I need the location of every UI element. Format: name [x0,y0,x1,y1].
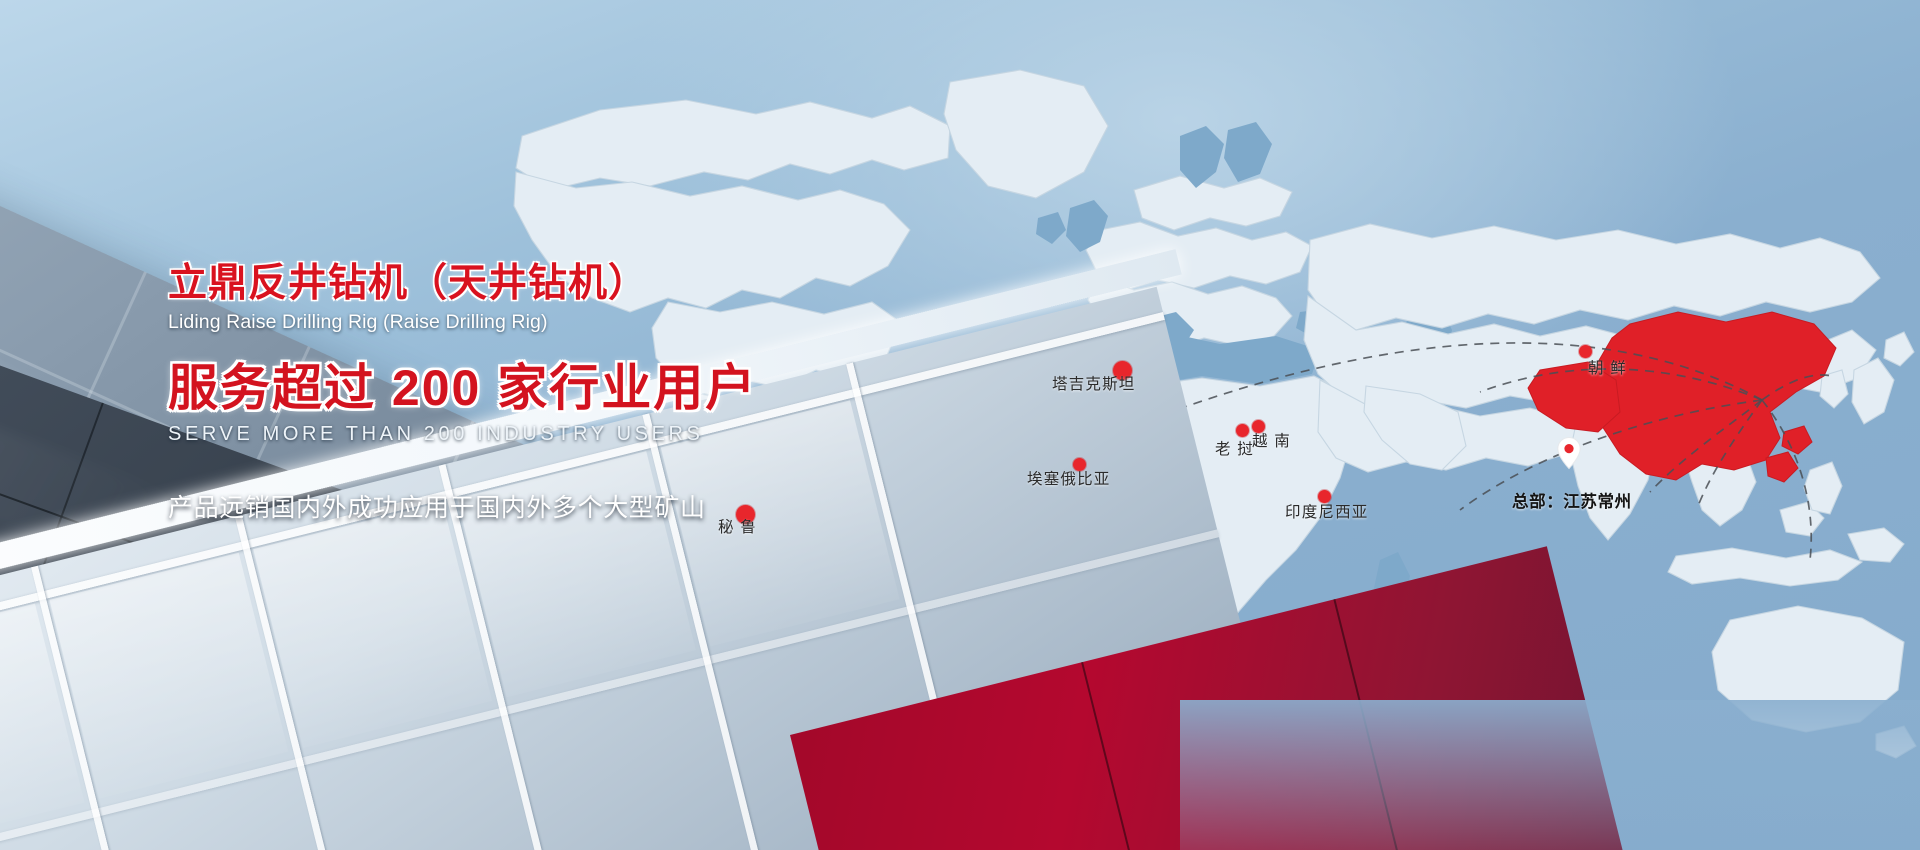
tagline-cn: 产品远销国内外成功应用于国内外多个大型矿山 [168,488,888,524]
map-marker-label: 埃塞俄比亚 [1027,467,1111,489]
map-marker-label: 塔吉克斯坦 [1052,372,1136,394]
promo-banner: .ld{fill:#e4edf4;stroke:#c6d6e2;stroke-w… [0,0,1920,850]
map-marker-label: 秘 鲁 [718,515,757,537]
map-pin-icon [1556,436,1582,470]
map-marker-label: 老 挝 [1215,437,1254,459]
headquarters-label: 总部：江苏常州 [1512,488,1632,512]
map-marker-label: 越 南 [1252,429,1291,451]
headline-cn: 立鼎反井钻机（天井钻机） [168,262,888,306]
banner-copy: 立鼎反井钻机（天井钻机） Liding Raise Drilling Rig (… [168,262,888,524]
highlight-en: SERVE MORE THAN 200 INDUSTRY USERS [168,423,888,446]
map-marker-label: 印度尼西亚 [1285,500,1369,522]
map-marker-dot [1236,424,1249,437]
headline-en: Liding Raise Drilling Rig (Raise Drillin… [168,311,888,334]
highlight-cn: 服务超过 200 家行业用户 [168,361,888,415]
map-marker-label: 朝 鲜 [1588,356,1627,378]
